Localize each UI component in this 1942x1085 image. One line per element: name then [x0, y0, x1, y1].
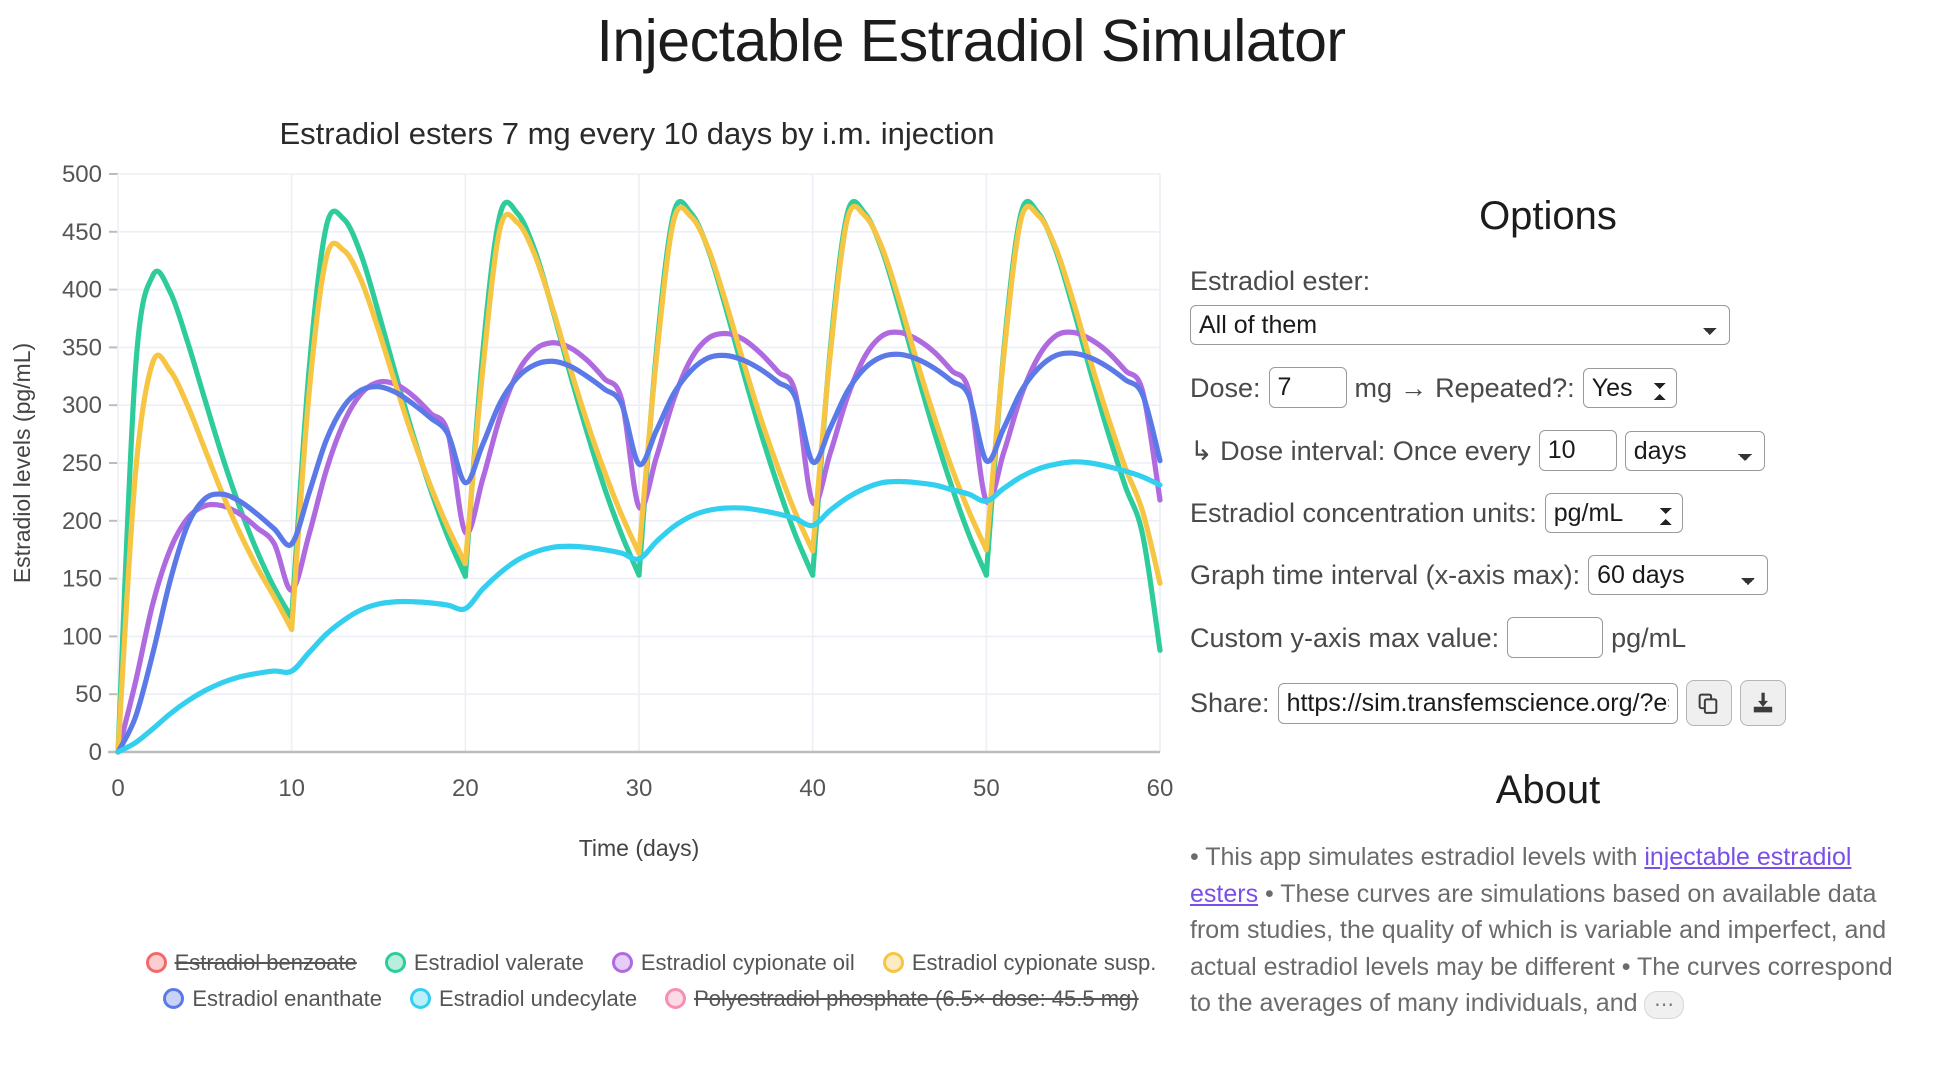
legend-label: Estradiol valerate [414, 950, 584, 976]
estradiol-levels-line-chart: 0501001502002503003504004505000102030405… [0, 152, 1190, 942]
repeated-label: Repeated?: [1435, 372, 1575, 404]
legend-swatch-icon [410, 988, 431, 1009]
about-text-part2: • These curves are simulations based on … [1190, 880, 1893, 1018]
svg-text:40: 40 [799, 775, 826, 802]
legend-swatch-icon [612, 952, 633, 973]
copy-icon[interactable] [1686, 680, 1732, 726]
ymax-row: Custom y-axis max value: pg/mL [1190, 617, 1906, 658]
about-heading: About [1190, 768, 1906, 813]
dose-label: Dose: [1190, 372, 1261, 404]
interval-input[interactable] [1539, 430, 1617, 471]
legend-swatch-icon [385, 952, 406, 973]
legend-item[interactable]: Estradiol benzoate [146, 950, 357, 976]
legend-label: Estradiol cypionate oil [641, 950, 855, 976]
svg-text:500: 500 [62, 161, 102, 188]
curve-3 [292, 243, 466, 629]
interval-unit-select[interactable]: days [1625, 431, 1765, 471]
legend-label: Estradiol cypionate susp. [912, 950, 1157, 976]
svg-text:200: 200 [62, 508, 102, 535]
legend-item[interactable]: Estradiol valerate [385, 950, 584, 976]
svg-text:0: 0 [89, 739, 102, 766]
main-layout: Estradiol esters 7 mg every 10 days by i… [0, 76, 1942, 1022]
about-paragraph: • This app simulates estradiol levels wi… [1190, 839, 1906, 1022]
svg-text:250: 250 [62, 450, 102, 477]
legend-item[interactable]: Estradiol cypionate oil [612, 950, 855, 976]
page-title: Injectable Estradiol Simulator [0, 0, 1942, 76]
xmax-select[interactable]: 60 days [1588, 555, 1768, 595]
share-label: Share: [1190, 687, 1270, 719]
chart-column: Estradiol esters 7 mg every 10 days by i… [0, 76, 1190, 1022]
svg-text:Time (days): Time (days) [579, 835, 700, 861]
options-heading: Options [1190, 194, 1906, 239]
dose-unit-label: mg [1355, 372, 1393, 404]
legend-item[interactable]: Estradiol undecylate [410, 986, 637, 1012]
arrow-icon: → [1400, 372, 1427, 404]
ester-row: Estradiol ester: All of them [1190, 265, 1906, 345]
units-label: Estradiol concentration units: [1190, 497, 1537, 529]
interval-row: ↳ Dose interval: Once every days [1190, 430, 1906, 471]
legend-swatch-icon [665, 988, 686, 1009]
legend-item[interactable]: Estradiol enanthate [163, 986, 382, 1012]
interval-label: ↳ Dose interval: Once every [1190, 435, 1531, 467]
dose-row: Dose: mg → Repeated?: Yes [1190, 367, 1906, 408]
svg-text:0: 0 [111, 775, 124, 802]
download-icon[interactable] [1740, 680, 1786, 726]
svg-text:20: 20 [452, 775, 479, 802]
ester-select[interactable]: All of them [1190, 305, 1730, 345]
ymax-input[interactable] [1507, 617, 1603, 658]
svg-text:350: 350 [62, 334, 102, 361]
share-row: Share: [1190, 680, 1906, 726]
legend-item[interactable]: Estradiol cypionate susp. [883, 950, 1157, 976]
curve-3 [639, 207, 813, 553]
svg-text:30: 30 [626, 775, 653, 802]
svg-text:Estradiol levels (pg/mL): Estradiol levels (pg/mL) [9, 343, 35, 583]
share-url-input[interactable] [1278, 683, 1678, 724]
curve-1 [292, 211, 466, 618]
legend-swatch-icon [146, 952, 167, 973]
svg-text:150: 150 [62, 565, 102, 592]
chart-title: Estradiol esters 7 mg every 10 days by i… [0, 76, 1190, 152]
expand-about-button[interactable]: ⋯ [1644, 991, 1684, 1019]
xmax-row: Graph time interval (x-axis max): 60 day… [1190, 555, 1906, 595]
svg-text:400: 400 [62, 276, 102, 303]
xmax-label: Graph time interval (x-axis max): [1190, 559, 1580, 591]
svg-text:50: 50 [75, 681, 102, 708]
svg-text:50: 50 [973, 775, 1000, 802]
curve-3 [986, 206, 1160, 583]
about-text-part1: • This app simulates estradiol levels wi… [1190, 843, 1644, 871]
legend-label: Polyestradiol phosphate (6.5× dose: 45.5… [694, 986, 1139, 1012]
legend-label: Estradiol undecylate [439, 986, 637, 1012]
repeated-select[interactable]: Yes [1583, 368, 1677, 408]
legend-label: Estradiol enanthate [192, 986, 382, 1012]
ymax-unit-label: pg/mL [1611, 622, 1686, 654]
svg-text:300: 300 [62, 392, 102, 419]
svg-text:60: 60 [1147, 775, 1174, 802]
svg-text:100: 100 [62, 623, 102, 650]
dose-input[interactable] [1269, 367, 1347, 408]
curve-3 [813, 206, 987, 551]
units-select[interactable]: pg/mL [1545, 493, 1683, 533]
legend-label: Estradiol benzoate [175, 950, 357, 976]
svg-text:10: 10 [278, 775, 305, 802]
chart-area: 0501001502002503003504004505000102030405… [0, 152, 1190, 942]
ymax-label: Custom y-axis max value: [1190, 622, 1499, 654]
legend-row: Estradiol benzoateEstradiol valerateEstr… [86, 950, 1216, 976]
legend-swatch-icon [163, 988, 184, 1009]
options-column: Options Estradiol ester: All of them Dos… [1190, 76, 1942, 1022]
units-row: Estradiol concentration units: pg/mL [1190, 493, 1906, 533]
legend-swatch-icon [883, 952, 904, 973]
legend-row: Estradiol enanthateEstradiol undecylateP… [86, 986, 1216, 1012]
legend-item[interactable]: Polyestradiol phosphate (6.5× dose: 45.5… [665, 986, 1139, 1012]
ester-label: Estradiol ester: [1190, 265, 1370, 297]
chart-legend: Estradiol benzoateEstradiol valerateEstr… [0, 950, 1216, 1012]
svg-text:450: 450 [62, 219, 102, 246]
